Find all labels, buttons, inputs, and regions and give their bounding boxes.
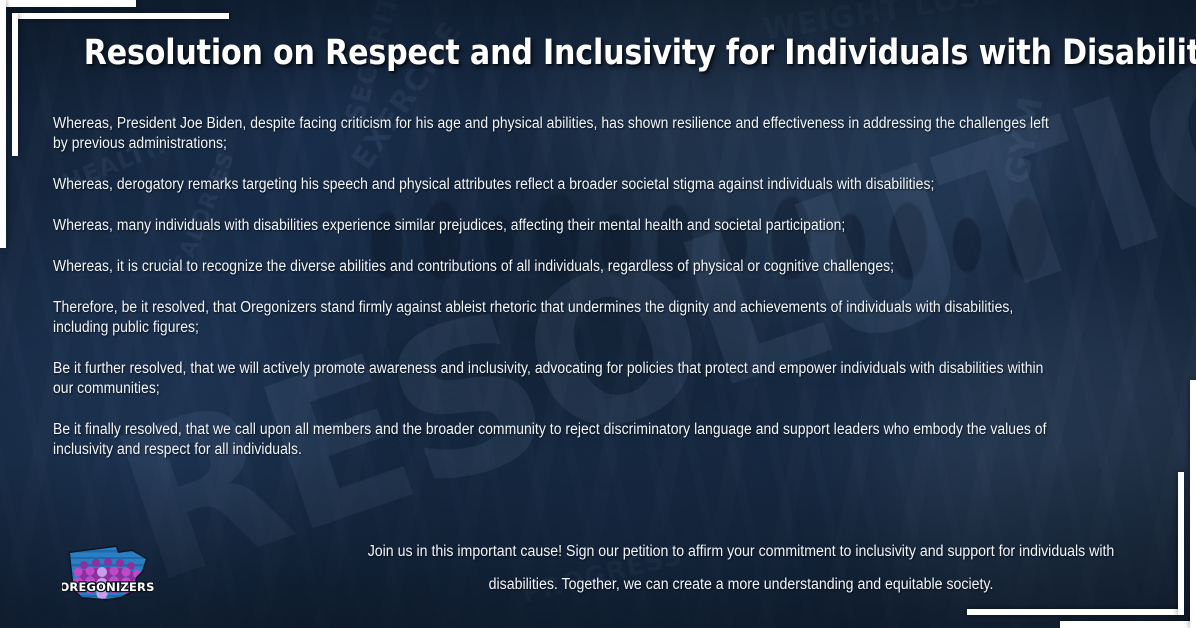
clause-resolved-3: Be it finally resolved, that we call upo… (53, 420, 1051, 460)
resolution-clauses: Whereas, President Joe Biden, despite fa… (53, 114, 1156, 460)
clause-resolved-2: Be it further resolved, that we will act… (53, 359, 1051, 399)
clause-resolved-1: Therefore, be it resolved, that Oregoniz… (53, 298, 1051, 338)
oregon-state-shape (62, 541, 154, 605)
page-title: Resolution on Respect and Inclusivity fo… (84, 33, 1113, 73)
clause-whereas-1: Whereas, President Joe Biden, despite fa… (53, 114, 1051, 154)
resolution-poster: RESOLUTION WEIGHT LOSS SECURITY EXERCISE… (0, 0, 1196, 628)
call-to-action-text: Join us in this important cause! Sign ou… (363, 535, 1119, 601)
oregonizers-logo[interactable]: OREGONIZERS (62, 541, 154, 605)
clause-whereas-3: Whereas, many individuals with disabilit… (53, 216, 1051, 236)
svg-text:OREGONIZERS: OREGONIZERS (62, 580, 154, 594)
logo-wordmark: OREGONIZERS (62, 580, 154, 594)
poster-content: Resolution on Respect and Inclusivity fo… (0, 0, 1196, 628)
clause-whereas-4: Whereas, it is crucial to recognize the … (53, 257, 1051, 277)
clause-whereas-2: Whereas, derogatory remarks targeting hi… (53, 175, 1051, 195)
